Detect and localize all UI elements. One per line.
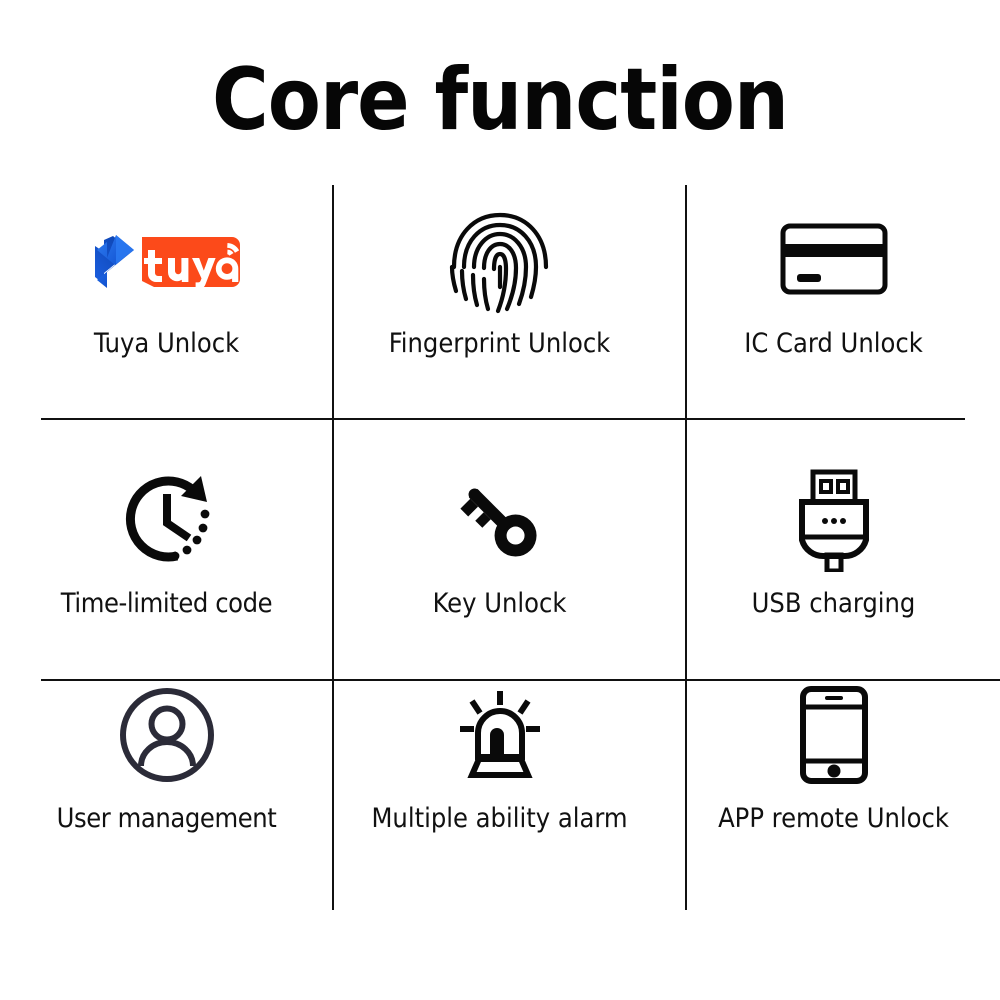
feature-cell-time-limited-code: Time-limited code: [0, 460, 333, 680]
core-function-page: Core function: [0, 0, 1000, 1000]
feature-label: Tuya Unlock: [94, 328, 239, 360]
tuya-wordmark: [132, 237, 240, 287]
feature-label: Key Unlock: [433, 588, 567, 620]
feature-cell-ic-card-unlock: IC Card Unlock: [667, 200, 1000, 420]
ic-card-icon: [779, 200, 889, 320]
feature-label: Time-limited code: [61, 588, 272, 620]
siren-alarm-icon: [450, 675, 550, 795]
key-icon: [450, 460, 550, 580]
user-circle-icon: [117, 675, 217, 795]
feature-label: USB charging: [752, 588, 916, 620]
feature-cell-user-management: User management: [0, 675, 333, 895]
tuya-bluetooth-logo: [94, 200, 240, 320]
smartphone-icon: [798, 675, 870, 795]
feature-label: Fingerprint Unlock: [389, 328, 611, 360]
clock-arrow-icon: [115, 460, 219, 580]
page-title: Core function: [0, 52, 1000, 148]
bluetooth-icon: [94, 234, 136, 290]
feature-cell-multiple-ability-alarm: Multiple ability alarm: [333, 675, 666, 895]
feature-cell-tuya-unlock: Tuya Unlock: [0, 200, 333, 420]
feature-cell-fingerprint-unlock: Fingerprint Unlock: [333, 200, 666, 420]
feature-cell-key-unlock: Key Unlock: [333, 460, 666, 680]
feature-grid: Tuya Unlock: [0, 170, 1000, 930]
feature-cell-usb-charging: USB charging: [667, 460, 1000, 680]
usb-plug-icon: [791, 460, 877, 580]
fingerprint-icon: [448, 200, 552, 320]
feature-label: Multiple ability alarm: [371, 803, 627, 835]
feature-label: APP remote Unlock: [718, 803, 949, 835]
feature-label: User management: [57, 803, 277, 835]
feature-label: IC Card Unlock: [744, 328, 923, 360]
feature-cell-app-remote-unlock: APP remote Unlock: [667, 675, 1000, 895]
